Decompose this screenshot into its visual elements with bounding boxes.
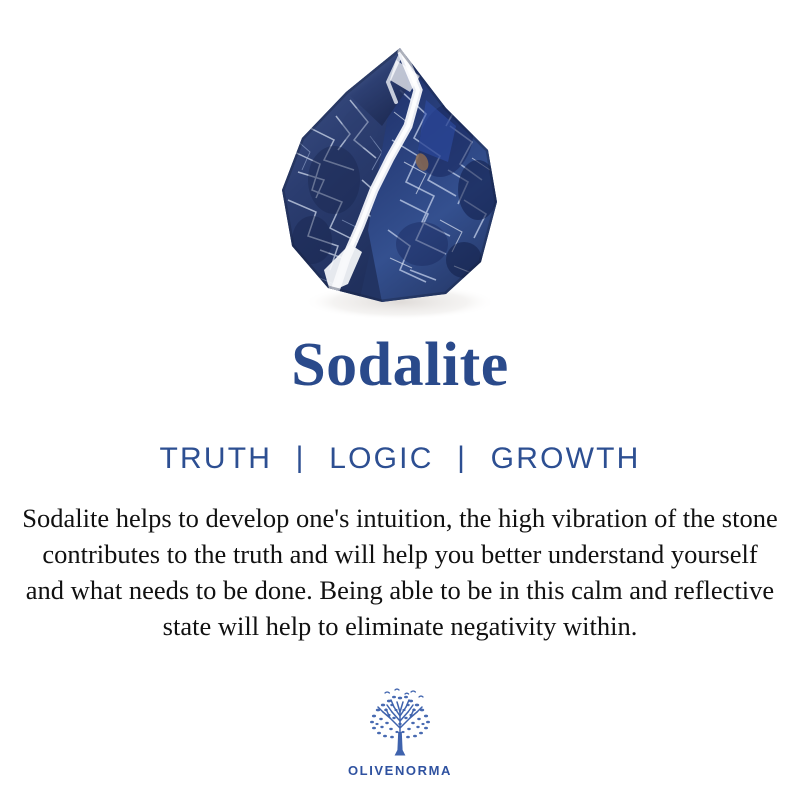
keyword-separator-1: | — [283, 443, 319, 473]
brand-name: OLIVENORMA — [348, 763, 452, 778]
keyword-logic: LOGIC — [329, 442, 433, 475]
keyword-separator-2: | — [444, 443, 480, 473]
keyword-growth: GROWTH — [491, 442, 641, 475]
description-text: Sodalite helps to develop one's intuitio… — [20, 500, 780, 644]
keyword-truth: TRUTH — [159, 442, 272, 475]
keyword-list: TRUTH | LOGIC | GROWTH — [0, 444, 800, 474]
sodalite-crystal-image — [250, 30, 550, 320]
brand-logo: OLIVENORMA — [0, 688, 800, 778]
product-image-container — [0, 30, 800, 320]
tree-logo-icon — [361, 688, 439, 760]
crystal-body — [250, 30, 550, 320]
sodalite-info-card: Sodalite TRUTH | LOGIC | GROWTH Sodalite… — [0, 0, 800, 800]
bird-glyphs — [385, 689, 423, 697]
page-title: Sodalite — [0, 334, 800, 396]
